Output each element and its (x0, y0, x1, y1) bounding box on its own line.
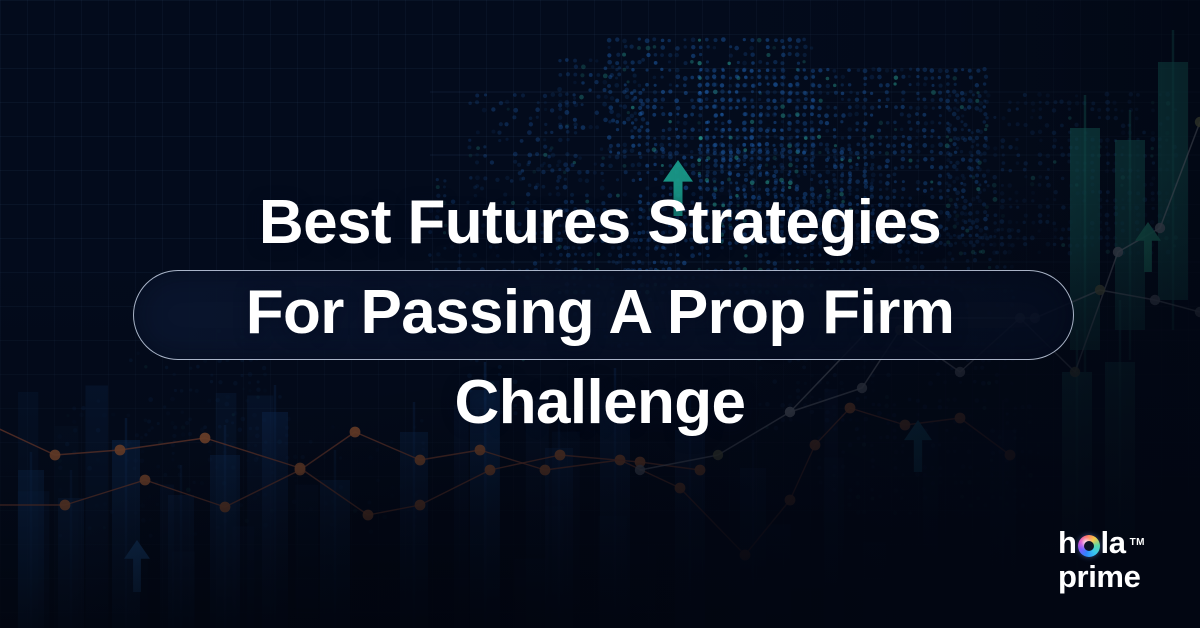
headline-line-2: For Passing A Prop Firm (0, 268, 1200, 358)
headline-line-1: Best Futures Strategies (0, 178, 1200, 268)
headline-line-3: Challenge (0, 358, 1200, 448)
logo-wordmark-hola: h la TM (1058, 527, 1145, 558)
logo-wordmark-prime: prime (1058, 561, 1145, 592)
logo-iridescent-o-icon (1078, 535, 1100, 557)
trademark-symbol: TM (1130, 538, 1145, 548)
hero-banner: Best Futures Strategies For Passing A Pr… (0, 0, 1200, 628)
page-title: Best Futures Strategies For Passing A Pr… (0, 178, 1200, 448)
logo-letter-h: h (1058, 527, 1077, 558)
brand-logo[interactable]: h la TM prime (1058, 527, 1145, 592)
logo-letters-la: la (1101, 527, 1126, 558)
